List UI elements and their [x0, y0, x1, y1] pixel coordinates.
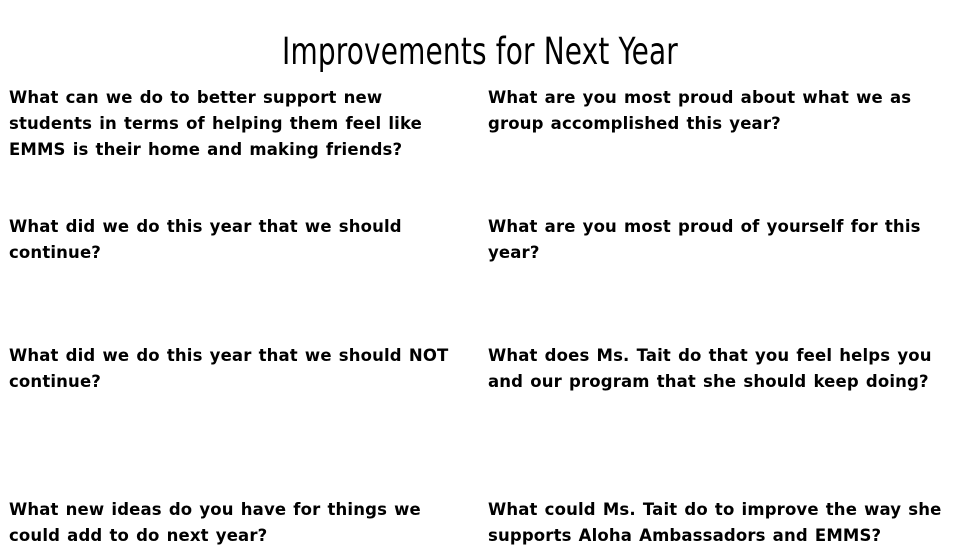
question-grid: What can we do to better support new stu…: [0, 0, 960, 540]
question-should-not-continue: What did we do this year that we should …: [9, 343, 471, 395]
question-proud-group: What are you most proud about what we as…: [488, 85, 950, 137]
presentation-slide: Improvements for Next Year What can we d…: [0, 0, 960, 540]
question-should-continue: What did we do this year that we should …: [9, 214, 471, 266]
question-ms-tait-improve: What could Ms. Tait do to improve the wa…: [488, 497, 950, 549]
question-support-new-students: What can we do to better support new stu…: [9, 85, 471, 163]
question-proud-self: What are you most proud of yourself for …: [488, 214, 950, 266]
question-new-ideas: What new ideas do you have for things we…: [9, 497, 471, 549]
question-ms-tait-keep-doing: What does Ms. Tait do that you feel help…: [488, 343, 950, 395]
